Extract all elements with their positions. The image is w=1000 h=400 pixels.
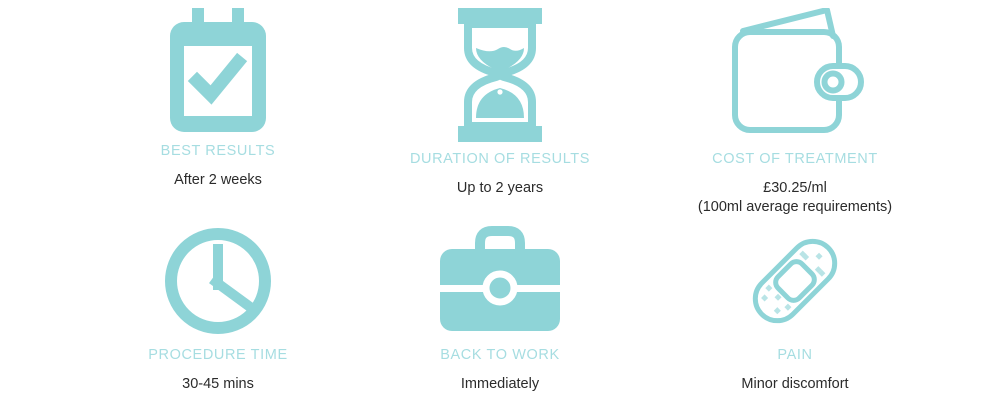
wallet-icon <box>721 8 869 142</box>
info-cell-back-to-work: BACK TO WORK Immediately <box>350 225 650 394</box>
info-value-main: Minor discomfort <box>741 376 848 392</box>
info-value-main: Immediately <box>461 376 539 392</box>
info-label: DURATION OF RESULTS <box>410 152 590 167</box>
info-value: Minor discomfort <box>741 375 848 394</box>
info-value-main: Up to 2 years <box>457 180 543 196</box>
info-value-sub: (100ml average requirements) <box>698 198 892 217</box>
info-label: BACK TO WORK <box>440 348 559 363</box>
bandage-icon <box>739 225 851 337</box>
info-value: Up to 2 years <box>457 179 543 198</box>
info-label: PAIN <box>777 348 812 363</box>
info-cell-cost-of-treatment: COST OF TREATMENT £30.25/ml (100ml avera… <box>645 8 945 217</box>
info-cell-pain: PAIN Minor discomfort <box>645 225 945 394</box>
info-value-main: After 2 weeks <box>174 172 262 188</box>
hourglass-icon <box>452 8 548 142</box>
info-value: Immediately <box>461 375 539 394</box>
info-cell-duration-of-results: DURATION OF RESULTS Up to 2 years <box>350 8 650 198</box>
info-value: 30-45 mins <box>182 375 254 394</box>
info-value-main: 30-45 mins <box>182 376 254 392</box>
info-value-main: £30.25/ml <box>763 180 827 196</box>
briefcase-icon <box>436 225 564 337</box>
clock-icon <box>162 225 274 337</box>
info-value: £30.25/ml (100ml average requirements) <box>698 179 892 218</box>
info-cell-procedure-time: PROCEDURE TIME 30-45 mins <box>68 225 368 394</box>
treatment-info-grid: BEST RESULTS After 2 weeks DURATION OF R… <box>0 0 1000 400</box>
info-label: COST OF TREATMENT <box>712 152 878 167</box>
info-cell-best-results: BEST RESULTS After 2 weeks <box>68 8 368 190</box>
info-value: After 2 weeks <box>174 171 262 190</box>
calendar-check-icon <box>166 8 270 134</box>
info-label: BEST RESULTS <box>161 144 276 159</box>
info-label: PROCEDURE TIME <box>148 348 287 363</box>
